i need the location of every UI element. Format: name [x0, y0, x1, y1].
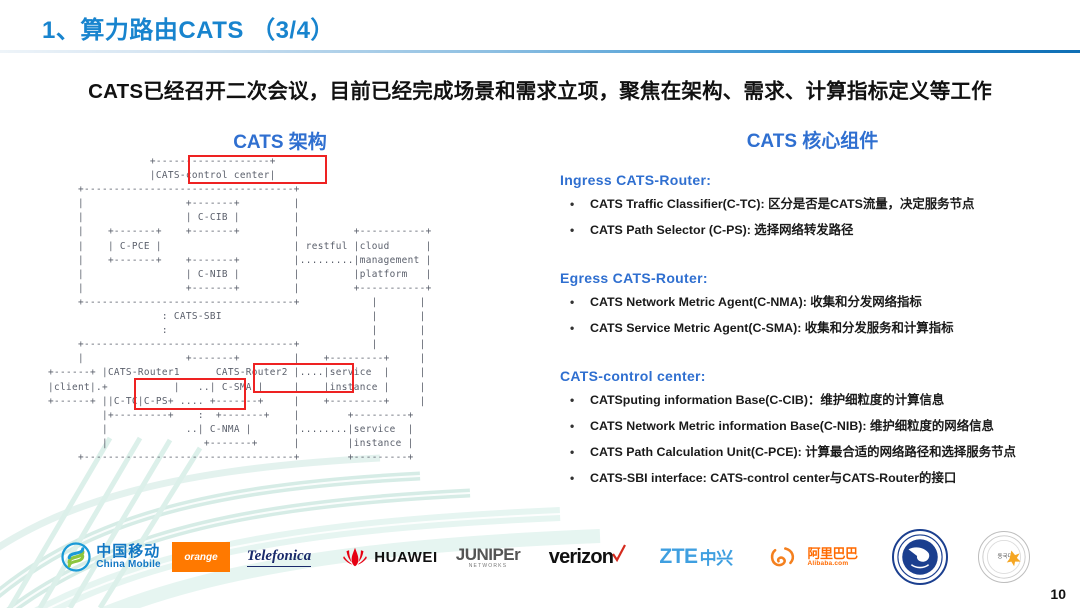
- list-item: •CATS Traffic Classifier(C-TC): 区分是否是CAT…: [560, 194, 1080, 215]
- group-cats-control-center: CATS-control center: •CATSputing informa…: [560, 368, 1080, 494]
- group-egress-cats-router: Egress CATS-Router: •CATS Network Metric…: [560, 270, 1080, 344]
- logo-bupt-seal: [878, 528, 962, 586]
- list-item-text: CATS Network Metric information Base(C-N…: [590, 419, 994, 433]
- logo-label: JUNIPEr: [456, 545, 521, 564]
- list-item: •CATS-SBI interface: CATS-control center…: [560, 468, 1080, 489]
- logo-label-en: China Mobile: [96, 560, 161, 571]
- slide-subtitle: CATS已经召开二次会议，目前已经完成场景和需求立项，聚焦在架构、需求、计算指标…: [0, 74, 1080, 104]
- alibaba-mark-icon: [770, 545, 804, 569]
- list-item-text: CATS Path Selector (C-PS): 选择网络转发路径: [590, 223, 853, 237]
- huawei-flower-icon: [342, 546, 368, 568]
- list-item-text: CATS Traffic Classifier(C-TC): 区分是否是CATS…: [590, 197, 974, 211]
- list-item: •CATS Network Metric Agent(C-NMA): 收集和分发…: [560, 292, 1080, 313]
- logo-label-cn: 中兴: [700, 549, 733, 568]
- logo-label-cn: 阿里巴巴: [807, 547, 857, 560]
- dongguk-seal-svg: 동국대: [981, 534, 1027, 580]
- logo-alibaba: 阿里巴巴 Alibaba.com: [760, 528, 868, 586]
- right-column-heading: CATS 核心组件: [545, 126, 1080, 153]
- logo-china-mobile: 中国移动 China Mobile: [46, 528, 176, 586]
- logo-label: ZTE: [659, 545, 697, 569]
- bupt-seal-svg: [896, 533, 944, 581]
- list-item: •CATSputing information Base(C-CIB)：维护细粒…: [560, 390, 1080, 411]
- verizon-check-icon: [611, 544, 627, 562]
- logo-orange: orange: [170, 528, 232, 586]
- china-mobile-icon: [61, 542, 91, 572]
- logo-dongguk-seal: 동국대: [962, 528, 1046, 586]
- list-item: • CATS Path Selector (C-PS): 选择网络转发路径: [560, 220, 1080, 241]
- logo-verizon: verizon: [534, 528, 642, 586]
- highlight-box-control-center: [188, 155, 327, 184]
- highlight-box-router1: [134, 378, 246, 410]
- group-items: •CATS Traffic Classifier(C-TC): 区分是否是CAT…: [560, 194, 1080, 241]
- cats-architecture-ascii-diagram: +-------------------+ |CATS-control cent…: [48, 155, 432, 465]
- group-title: Egress CATS-Router:: [560, 270, 1080, 286]
- logo-sublabel: NETWORKS: [456, 564, 521, 569]
- logo-label: Telefonica: [247, 548, 311, 567]
- bullet-icon: •: [570, 390, 574, 411]
- bupt-seal-icon: [892, 529, 948, 585]
- orange-box: orange: [172, 542, 230, 572]
- list-item-text: CATSputing information Base(C-CIB)：维护细粒度…: [590, 393, 944, 407]
- logo-zte: ZTE中兴: [648, 528, 744, 586]
- logo-label: orange: [184, 552, 217, 563]
- bullet-icon: •: [570, 220, 574, 241]
- page-number: 10: [1050, 586, 1066, 602]
- bullet-icon: •: [570, 292, 574, 313]
- logo-juniper: JUNIPEr NETWORKS: [445, 528, 531, 586]
- partner-logo-strip: 中国移动 China Mobile orange Telefonica: [0, 528, 1080, 590]
- logo-label: HUAWEI: [374, 549, 438, 566]
- bullet-icon: •: [570, 416, 574, 437]
- list-item: •CATS Network Metric information Base(C-…: [560, 416, 1080, 437]
- logo-label: verizon: [549, 546, 613, 569]
- list-item-text: CATS Network Metric Agent(C-NMA): 收集和分发网…: [590, 295, 922, 309]
- bullet-icon: •: [570, 318, 574, 339]
- logo-telefonica: Telefonica: [236, 528, 322, 586]
- logo-label-cn: 中国移动: [96, 544, 161, 560]
- group-items: •CATS Network Metric Agent(C-NMA): 收集和分发…: [560, 292, 1080, 339]
- list-item: •CATS Service Metric Agent(C-SMA): 收集和分发…: [560, 318, 1080, 339]
- list-item-text: CATS Service Metric Agent(C-SMA): 收集和分发服…: [590, 321, 953, 335]
- highlight-box-router2: [253, 363, 354, 393]
- list-item-text: CATS-SBI interface: CATS-control center与…: [590, 471, 956, 485]
- list-item: •CATS Path Calculation Unit(C-PCE): 计算最合…: [560, 442, 1080, 463]
- bullet-icon: •: [570, 468, 574, 489]
- list-item-text: CATS Path Calculation Unit(C-PCE): 计算最合适…: [590, 445, 1016, 459]
- dongguk-seal-icon: 동국대: [978, 531, 1030, 583]
- group-title: Ingress CATS-Router:: [560, 172, 1080, 188]
- logo-label-en: Alibaba.com: [807, 560, 857, 567]
- left-column-heading: CATS 架构: [0, 127, 560, 154]
- bullet-icon: •: [570, 194, 574, 215]
- slide: 1、算力路由CATS （3/4） CATS已经召开二次会议，目前已经完成场景和需…: [0, 0, 1080, 608]
- logo-huawei: HUAWEI: [333, 528, 447, 586]
- group-title: CATS-control center:: [560, 368, 1080, 384]
- group-items: •CATSputing information Base(C-CIB)：维护细粒…: [560, 390, 1080, 489]
- page-title: 1、算力路由CATS （3/4）: [42, 10, 335, 45]
- header-divider: [0, 50, 1080, 53]
- bullet-icon: •: [570, 442, 574, 463]
- group-ingress-cats-router: Ingress CATS-Router: •CATS Traffic Class…: [560, 172, 1080, 246]
